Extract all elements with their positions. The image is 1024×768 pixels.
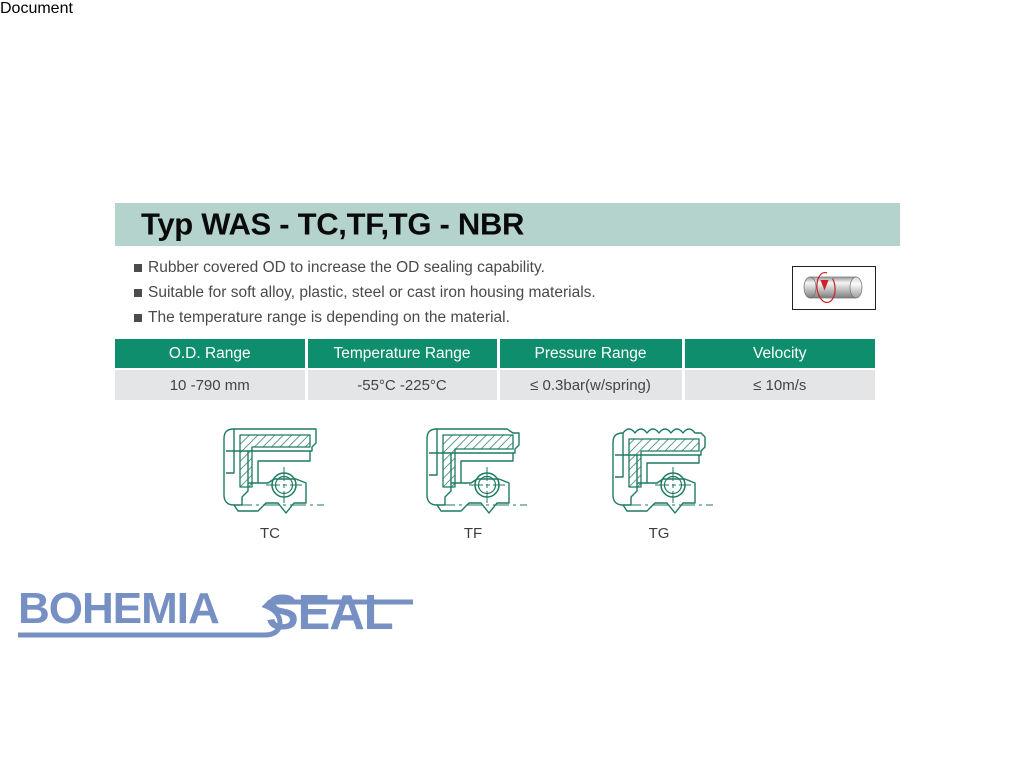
rotating-shaft-icon — [792, 266, 876, 310]
column-header-temperature-range: Temperature Range — [306, 339, 498, 369]
seal-caption-tf: TF — [408, 525, 538, 542]
column-header-pressure-range: Pressure Range — [498, 339, 683, 369]
square-bullet-icon — [134, 264, 142, 272]
list-item-label: Rubber covered OD to increase the OD sea… — [148, 257, 545, 279]
square-bullet-icon — [134, 314, 142, 322]
logo-word-bohemia: BOHEMIA — [18, 584, 219, 633]
list-item-label: Suitable for soft alloy, plastic, steel … — [148, 282, 596, 304]
list-item-label: The temperature range is depending on th… — [148, 307, 510, 329]
square-bullet-icon — [134, 289, 142, 297]
column-header-od-range: O.D. Range — [115, 339, 306, 369]
seal-figure-tc: TC — [205, 421, 335, 542]
seal-figure-tg: TG — [594, 421, 724, 542]
brand-logo: BOHEMIA SEAL — [18, 583, 413, 645]
title-band: Typ WAS - TC,TF,TG - NBR — [115, 203, 900, 246]
list-item: Rubber covered OD to increase the OD sea… — [134, 257, 734, 282]
seal-cross-section-tg-icon — [601, 421, 717, 521]
page-title: Typ WAS - TC,TF,TG - NBR — [141, 206, 524, 242]
column-header-velocity: Velocity — [683, 339, 875, 369]
cell-od-range: 10 -790 mm — [115, 369, 306, 400]
cell-pressure-range: ≤ 0.3bar(w/spring) — [498, 369, 683, 400]
list-item: The temperature range is depending on th… — [134, 307, 734, 332]
cell-temperature-range: -55°C -225°C — [306, 369, 498, 400]
seal-figure-tf: TF — [408, 421, 538, 542]
seal-cross-section-tf-icon — [415, 421, 531, 521]
list-item: Suitable for soft alloy, plastic, steel … — [134, 282, 734, 307]
logo-word-seal: SEAL — [266, 586, 393, 640]
seal-caption-tg: TG — [594, 525, 724, 542]
table-header-row: O.D. Range Temperature Range Pressure Ra… — [115, 339, 875, 369]
seal-cross-section-tc-icon — [212, 421, 328, 521]
table-row: 10 -790 mm -55°C -225°C ≤ 0.3bar(w/sprin… — [115, 369, 875, 400]
feature-list: Rubber covered OD to increase the OD sea… — [134, 257, 734, 332]
specification-table: O.D. Range Temperature Range Pressure Ra… — [115, 339, 875, 400]
cell-velocity: ≤ 10m/s — [683, 369, 875, 400]
seal-caption-tc: TC — [205, 525, 335, 542]
